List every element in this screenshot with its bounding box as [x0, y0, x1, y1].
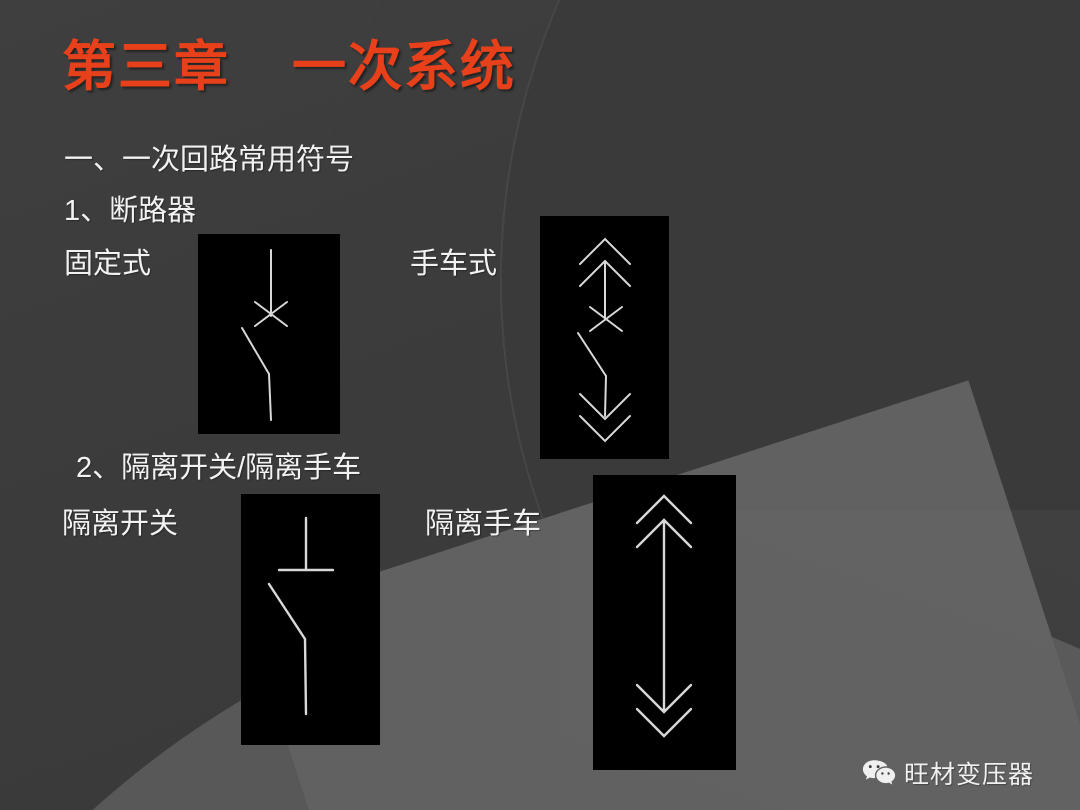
- list-item-1-breaker: 1、断路器: [64, 187, 196, 229]
- list-item-2-disconnector: 2、隔离开关/隔离手车: [76, 444, 361, 486]
- wechat-icon: [862, 759, 896, 787]
- breaker-fixed-diagram-icon: [198, 234, 340, 434]
- watermark-label: 旺材变压器: [904, 755, 1034, 791]
- label-fixed-type: 固定式: [64, 240, 151, 282]
- symbol-disconnect-truck: [593, 475, 736, 770]
- section-heading-1: 一、一次回路常用符号: [64, 136, 354, 178]
- disconnector-diagram-icon: [241, 494, 380, 745]
- breaker-truck-diagram-icon: [540, 216, 669, 459]
- symbol-breaker-truck: [540, 216, 669, 459]
- slide-content: 第三章 一次系统 一、一次回路常用符号 1、断路器 固定式 手车式 2、隔离开关…: [0, 0, 1080, 810]
- label-disconnector: 隔离开关: [62, 500, 178, 542]
- disconnect-truck-diagram-icon: [593, 475, 736, 770]
- label-truck-type: 手车式: [410, 240, 497, 282]
- slide-canvas: 第三章 一次系统 一、一次回路常用符号 1、断路器 固定式 手车式 2、隔离开关…: [0, 0, 1080, 810]
- watermark: 旺材变压器: [862, 755, 1034, 791]
- label-disconnect-truck: 隔离手车: [425, 500, 541, 542]
- symbol-breaker-fixed: [198, 234, 340, 434]
- symbol-disconnector: [241, 494, 380, 745]
- page-title: 第三章 一次系统: [62, 22, 516, 101]
